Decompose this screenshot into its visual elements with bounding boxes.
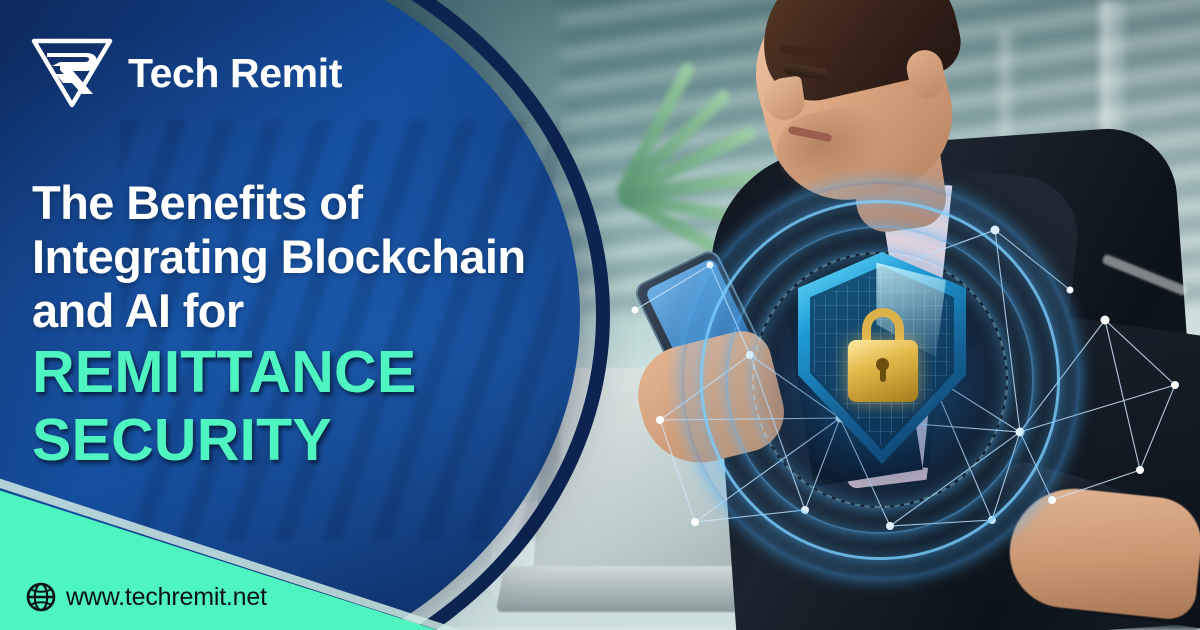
brand-name: Tech Remit	[128, 50, 342, 97]
headline-line-1: The Benefits of	[32, 176, 592, 230]
social-share-banner: Tech Remit The Benefits of Integrating B…	[0, 0, 1200, 630]
headline-line-3: and AI for	[32, 284, 592, 338]
headline-accent-line-1: REMITTANCE	[32, 338, 592, 406]
headline-accent-line-2: SECURITY	[32, 406, 592, 474]
globe-icon	[26, 582, 56, 612]
triangle-r-monogram-icon	[30, 36, 114, 110]
website-url-block[interactable]: www.techremit.net	[26, 582, 267, 612]
headline-line-2: Integrating Blockchain	[32, 230, 592, 284]
website-url-text: www.techremit.net	[66, 583, 267, 612]
padlock-keyhole-slot	[880, 368, 886, 382]
brand-logo[interactable]: Tech Remit	[30, 36, 342, 110]
headline-block: The Benefits of Integrating Blockchain a…	[32, 176, 592, 474]
security-shield-hologram	[690, 190, 1070, 570]
